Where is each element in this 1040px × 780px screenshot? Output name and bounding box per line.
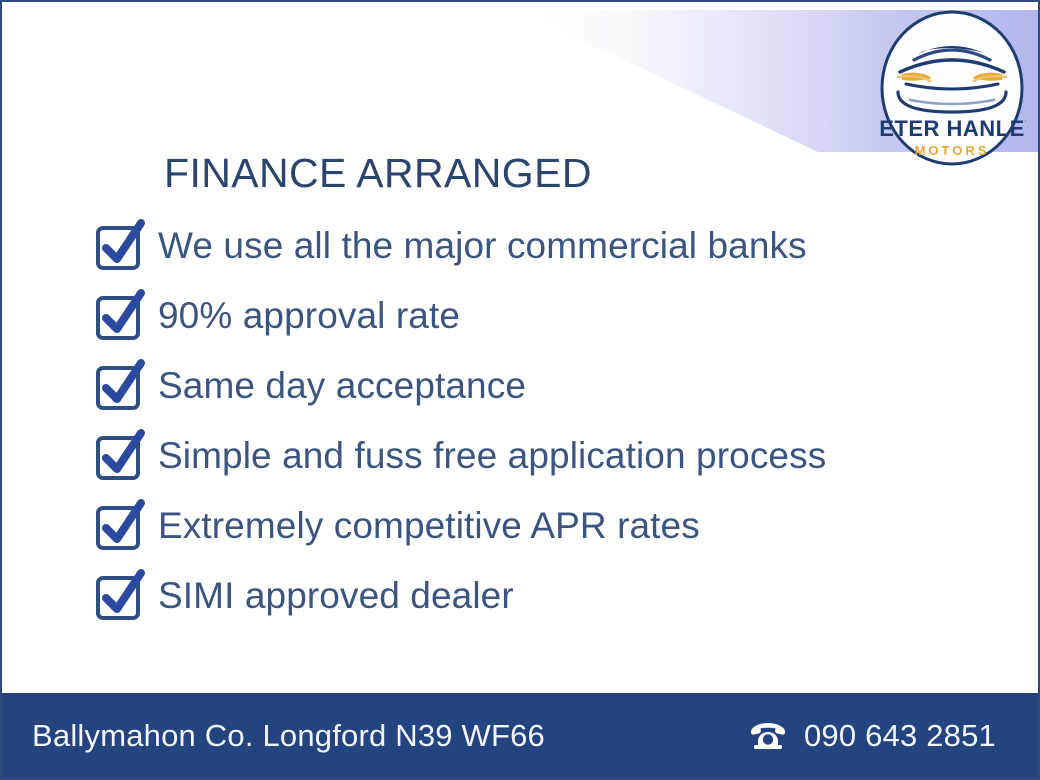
checkbox-checked-glyph xyxy=(94,496,150,552)
list-item-label: SIMI approved dealer xyxy=(158,577,514,614)
phone-number-text: 090 643 2851 xyxy=(804,718,996,754)
list-item: Simple and fuss free application process xyxy=(94,420,826,490)
telephone-glyph xyxy=(748,720,788,752)
contact-bar: Ballymahon Co. Longford N39 WF66 090 643… xyxy=(2,693,1038,778)
list-item: Same day acceptance xyxy=(94,350,826,420)
list-item: We use all the major commercial banks xyxy=(94,210,826,280)
list-item: 90% approval rate xyxy=(94,280,826,350)
checkbox-checked-icon xyxy=(94,290,144,340)
finance-advert-poster: PETER HANLEY MOTORS FINANCE ARRANGED We … xyxy=(0,0,1040,780)
checkbox-checked-icon xyxy=(94,360,144,410)
brand-logo: PETER HANLEY MOTORS xyxy=(878,8,1026,168)
checkbox-checked-icon xyxy=(94,570,144,620)
telephone-icon xyxy=(748,720,788,752)
list-item: SIMI approved dealer xyxy=(94,560,826,630)
list-item: Extremely competitive APR rates xyxy=(94,490,826,560)
logo-brand-sub: MOTORS xyxy=(915,143,990,158)
list-item-label: Extremely competitive APR rates xyxy=(158,507,700,544)
list-item-label: We use all the major commercial banks xyxy=(158,227,807,264)
benefits-list: We use all the major commercial banks 90… xyxy=(94,210,826,630)
checkbox-checked-glyph xyxy=(94,216,150,272)
checkbox-checked-icon xyxy=(94,220,144,270)
logo-brand-name: PETER HANLEY xyxy=(878,116,1026,141)
checkbox-checked-glyph xyxy=(94,356,150,412)
checkbox-checked-icon xyxy=(94,430,144,480)
list-item-label: 90% approval rate xyxy=(158,297,460,334)
checkbox-checked-glyph xyxy=(94,426,150,482)
checkbox-checked-glyph xyxy=(94,566,150,622)
checkbox-checked-icon xyxy=(94,500,144,550)
list-item-label: Simple and fuss free application process xyxy=(158,437,826,474)
page-title: FINANCE ARRANGED xyxy=(164,150,592,197)
dealer-phone[interactable]: 090 643 2851 xyxy=(748,718,996,754)
checkbox-checked-glyph xyxy=(94,286,150,342)
dealer-address: Ballymahon Co. Longford N39 WF66 xyxy=(32,718,545,754)
car-front-logo-icon: PETER HANLEY MOTORS xyxy=(878,8,1026,168)
list-item-label: Same day acceptance xyxy=(158,367,526,404)
